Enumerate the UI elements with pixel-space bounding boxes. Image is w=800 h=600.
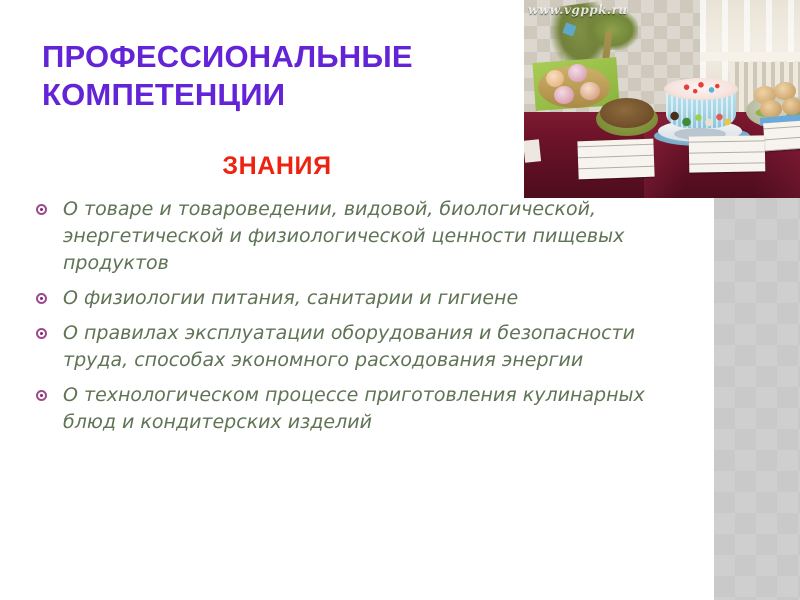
photo-small-cake [580,82,600,100]
list-item-label: О технологическом процессе приготовления… [63,382,676,436]
photo-placard-text-lines [689,135,766,172]
photo-brown-pastries [600,98,654,128]
list-item-label: О товаре и товароведении, видовой, биоло… [63,196,676,277]
fisheye-bullet-icon [36,204,47,215]
photo-small-cake [546,70,564,87]
list-item-label: О правилах эксплуатации оборудования и б… [63,320,676,374]
exhibition-photo: www.vgppk.ru [524,0,800,198]
list-item-label: О физиологии питания, санитарии и гигиен… [63,285,676,312]
photo-watermark: www.vgppk.ru [528,3,628,17]
photo-cake-top-decoration [676,80,724,96]
photo-small-cake [568,64,587,82]
photo-placard-text-lines [763,121,800,152]
slide-canvas: www.vgppk.ru ПРОФЕССИОНАЛЬНЫЕ КОМПЕТЕНЦИ… [0,0,800,600]
list-item: О физиологии питания, санитарии и гигиен… [36,285,676,312]
section-subtitle: ЗНАНИЯ [42,152,512,181]
decorative-side-band [714,198,800,600]
photo-placard-card-edge [524,139,541,163]
photo-cake-bottom-decoration [668,108,734,128]
page-title: ПРОФЕССИОНАЛЬНЫЕ КОМПЕТЕНЦИИ [42,38,512,114]
photo-placard-card [689,135,766,172]
list-item: О правилах эксплуатации оборудования и б… [36,320,676,374]
knowledge-bullet-list: О товаре и товароведении, видовой, биоло… [36,196,676,444]
photo-placard-card [763,121,800,152]
fisheye-bullet-icon [36,328,47,339]
photo-small-cake [554,86,574,104]
photo-bun [782,98,800,115]
photo-placard-card [577,139,654,180]
fisheye-bullet-icon [36,293,47,304]
photo-window-sill [700,52,800,61]
fisheye-bullet-icon [36,390,47,401]
list-item: О технологическом процессе приготовления… [36,382,676,436]
photo-placard-text-lines [577,139,654,180]
list-item: О товаре и товароведении, видовой, биоло… [36,196,676,277]
